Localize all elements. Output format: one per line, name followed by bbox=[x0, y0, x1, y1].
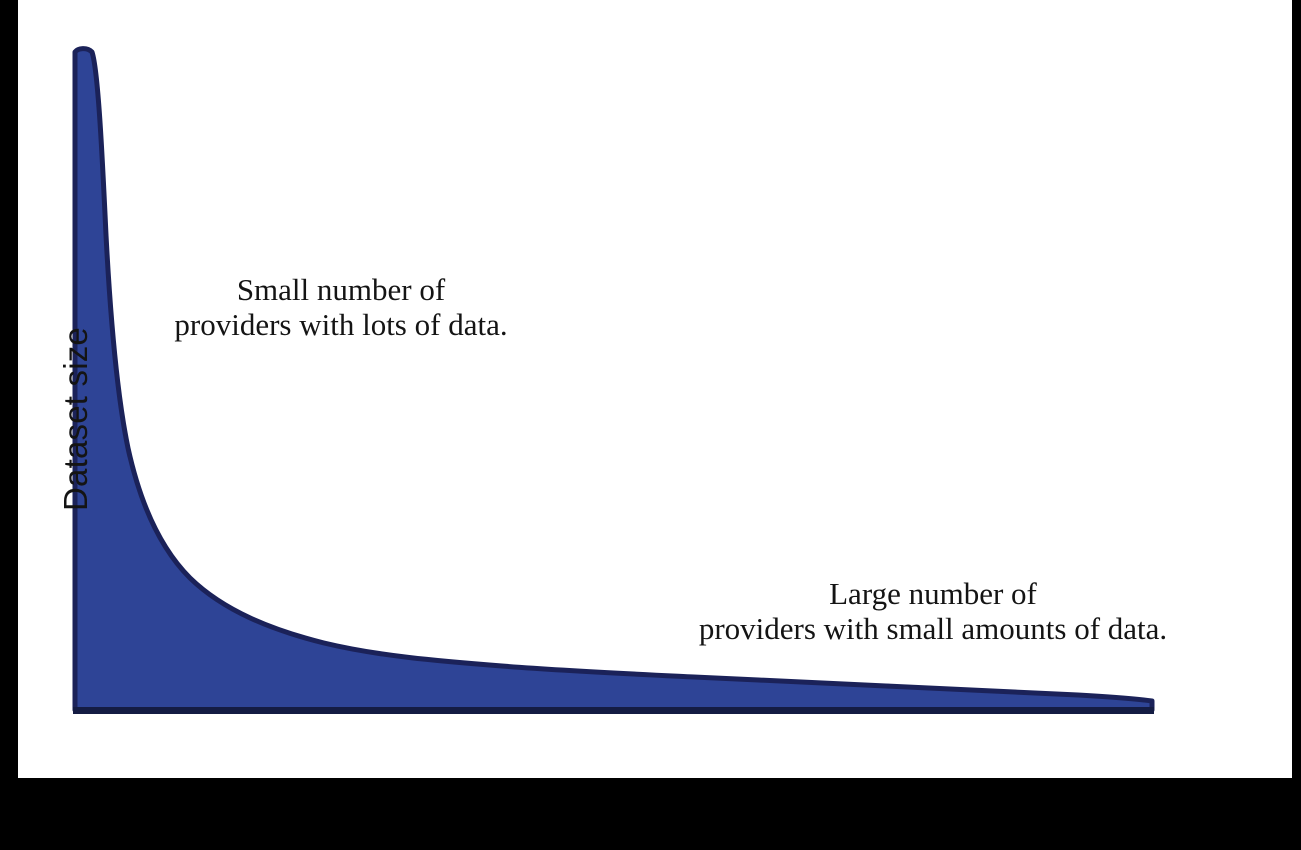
y-axis-label: Dataset size bbox=[57, 269, 95, 569]
annotation-large-providers-line1: Large number of bbox=[603, 576, 1263, 611]
annotation-small-providers: Small number of providers with lots of d… bbox=[121, 272, 561, 342]
area-chart-plot bbox=[18, 0, 1292, 778]
figure-root: Dataset size Small number of providers w… bbox=[0, 0, 1301, 850]
annotation-large-providers: Large number of providers with small amo… bbox=[603, 576, 1263, 646]
annotation-small-providers-line1: Small number of bbox=[121, 272, 561, 307]
annotation-large-providers-line2: providers with small amounts of data. bbox=[603, 611, 1263, 646]
annotation-small-providers-line2: providers with lots of data. bbox=[121, 307, 561, 342]
chart-canvas: Dataset size Small number of providers w… bbox=[18, 0, 1292, 778]
